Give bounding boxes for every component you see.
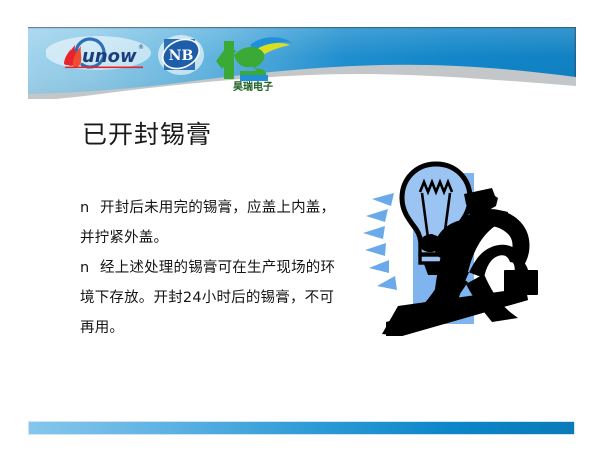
page-title: 已开封锡膏 xyxy=(82,120,212,150)
businessman-with-lightbulb-illustration xyxy=(358,146,543,336)
bullet-item: n开封后未用完的锡膏，应盖上内盖，并拧紧外盖。 xyxy=(80,193,342,253)
banner-right-edge xyxy=(575,27,576,77)
header-banner xyxy=(28,27,576,99)
banner-top-edge xyxy=(28,27,576,28)
body-text-block: n开封后未用完的锡膏，应盖上内盖，并拧紧外盖。 n经上述处理的锡膏可在生产现场的… xyxy=(80,193,342,343)
bullet-marker-icon: n xyxy=(80,253,100,283)
slide-canvas: unow ® NB xyxy=(0,0,600,463)
bullet-text: 经上述处理的锡膏可在生产现场的环境下存放。开封24小时后的锡膏，不可再用。 xyxy=(80,260,335,336)
footer-gradient-bar xyxy=(28,421,575,435)
ray-triangles xyxy=(363,193,397,290)
bullet-text: 开封后未用完的锡膏，应盖上内盖，并拧紧外盖。 xyxy=(80,200,335,246)
bullet-marker-icon: n xyxy=(80,193,100,223)
bullet-item: n经上述处理的锡膏可在生产现场的环境下存放。开封24小时后的锡膏，不可再用。 xyxy=(80,253,342,343)
